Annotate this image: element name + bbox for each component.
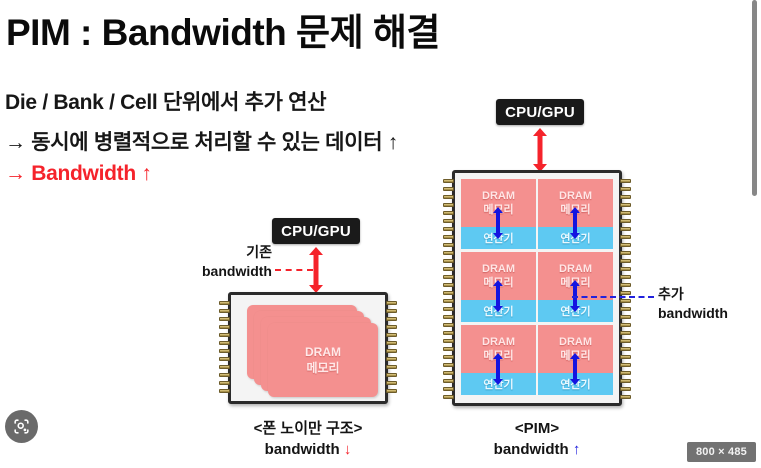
chip-pin [386,301,397,305]
chip-pin [443,395,454,399]
chip-pin [443,275,454,279]
left-caption-structure: <폰 노이만 구조> [218,418,398,439]
left-caption-trend-icon: ↓ [344,441,352,458]
right-cpu-gpu-box: CPU/GPU [496,99,584,125]
page-title: PIM : Bandwidth 문제 해결 [6,2,440,56]
chip-pin [443,259,454,263]
chip-pin [443,243,454,247]
right-caption-bandwidth: bandwidth [494,441,569,458]
left-dram-label: DRAM [305,344,341,360]
pim-cell-dram-label: DRAM [482,335,515,349]
pim-cell-dram-label: DRAM [482,189,515,203]
vertical-scrollbar[interactable] [747,0,761,468]
left-dram-label-kr: 메모리 [306,360,339,376]
chip-pin [443,211,454,215]
lens-camera-icon [12,417,31,436]
chip-pin [443,307,454,311]
chip-pin [386,333,397,337]
chip-pin [620,339,631,343]
chip-pin [443,179,454,183]
right-callout: 추가 bandwidth [658,285,728,323]
chip-pin [620,243,631,247]
pim-cell-dram-label: DRAM [559,335,592,349]
right-leader-line [572,296,654,298]
chip-pin [219,365,230,369]
pim-cell: DRAM 메모리 연산기 [538,252,613,322]
chip-pin [443,355,454,359]
scrollbar-thumb[interactable] [752,0,757,196]
left-callout: 기존 bandwidth [160,243,272,281]
chip-pin [620,267,631,271]
pim-internal-arrow [490,353,506,385]
chip-pin [219,333,230,337]
chip-pin [620,227,631,231]
chip-pin [620,347,631,351]
pim-cell-dram-label: DRAM [559,189,592,203]
chip-pin [620,251,631,255]
image-size-badge: 800 × 485 [687,442,756,462]
left-chip-pins-left [219,301,230,395]
left-caption: <폰 노이만 구조> bandwidth ↓ [218,418,398,460]
chip-pin [219,341,230,345]
chip-pin [620,187,631,191]
chip-pin [620,259,631,263]
chip-pin [219,317,230,321]
chip-pin [443,219,454,223]
right-callout-line1: 추가 [658,285,728,304]
chip-pin [443,379,454,383]
pim-cell-dram-label: DRAM [559,262,592,276]
chip-pin [219,357,230,361]
chip-pin [443,227,454,231]
chip-pin [386,389,397,393]
chip-pin [620,355,631,359]
pim-internal-arrow [567,353,583,385]
pim-cell: DRAM 메모리 연산기 [538,325,613,395]
pim-cell: DRAM 메모리 연산기 [461,252,536,322]
left-cpu-gpu-box: CPU/GPU [272,218,360,244]
pim-cell: DRAM 메모리 연산기 [538,179,613,249]
chip-pin [386,373,397,377]
chip-pin [620,307,631,311]
right-chip-pins-right [620,179,631,397]
chip-pin [620,211,631,215]
chip-pin [443,363,454,367]
chip-pin [386,357,397,361]
pim-internal-arrow [490,207,506,239]
pim-cell: DRAM 메모리 연산기 [461,325,536,395]
chip-pin [620,299,631,303]
chip-pin [219,349,230,353]
chip-pin [386,349,397,353]
chip-pin [443,203,454,207]
chip-pin [620,315,631,319]
right-callout-line2: bandwidth [658,304,728,323]
right-caption-structure: <PIM> [447,418,627,439]
chip-pin [219,309,230,313]
chip-pin [620,395,631,399]
chip-pin [219,389,230,393]
chip-pin [620,275,631,279]
chip-pin [620,331,631,335]
chip-pin [620,195,631,199]
chip-pin [443,187,454,191]
chip-pin [620,283,631,287]
chip-pin [620,291,631,295]
right-caption: <PIM> bandwidth ↑ [447,418,627,460]
right-caption-trend-icon: ↑ [573,441,581,458]
chip-pin [443,235,454,239]
chip-pin [219,301,230,305]
body-line-3: → Bandwidth ↑ [5,162,152,186]
chip-pin [219,325,230,329]
pim-cell-dram-label: DRAM [482,262,515,276]
chip-pin [443,387,454,391]
chip-pin [620,235,631,239]
pim-internal-arrow [567,207,583,239]
left-callout-line1: 기존 [160,243,272,262]
chip-pin [620,219,631,223]
body-line-2: → 동시에 병렬적으로 처리할 수 있는 데이터 ↑ [5,126,398,156]
pim-internal-arrow [490,280,506,312]
chip-pin [443,371,454,375]
chip-pin [620,363,631,367]
chip-pin [386,381,397,385]
chip-pin [620,379,631,383]
chip-pin [386,317,397,321]
chip-pin [443,251,454,255]
pim-chip: DRAM 메모리 연산기 DRAM 메모리 연산기 DRAM 메모리 [452,170,622,406]
chip-pin [443,331,454,335]
chip-pin [443,347,454,351]
chip-pin [386,325,397,329]
image-viewer-canvas: PIM : Bandwidth 문제 해결 Die / Bank / Cell … [0,0,761,468]
chip-pin [620,387,631,391]
chip-pin [443,195,454,199]
chip-pin [443,299,454,303]
chip-pin [443,339,454,343]
dram-stack-layer-1: DRAM 메모리 [268,323,378,397]
chip-pin [620,323,631,327]
left-leader-line [275,269,313,271]
right-chip-pins-left [443,179,454,397]
chip-pin [386,365,397,369]
chip-pin [219,373,230,377]
left-chip-pins-right [386,301,397,395]
body-line-1: Die / Bank / Cell 단위에서 추가 연산 [5,86,326,116]
chip-pin [620,203,631,207]
left-caption-bandwidth: bandwidth [265,441,340,458]
chip-pin [443,267,454,271]
chip-pin [443,291,454,295]
von-neumann-chip: DRAM 메모리 [228,292,388,404]
chip-pin [443,315,454,319]
right-bandwidth-arrow [530,128,550,172]
chip-pin [620,179,631,183]
left-callout-line2: bandwidth [160,262,272,281]
pim-cell: DRAM 메모리 연산기 [461,179,536,249]
chip-pin [620,371,631,375]
chip-pin [386,341,397,345]
chip-pin [443,323,454,327]
chip-pin [443,283,454,287]
chip-pin [386,309,397,313]
google-lens-button[interactable] [5,410,38,443]
chip-pin [219,381,230,385]
